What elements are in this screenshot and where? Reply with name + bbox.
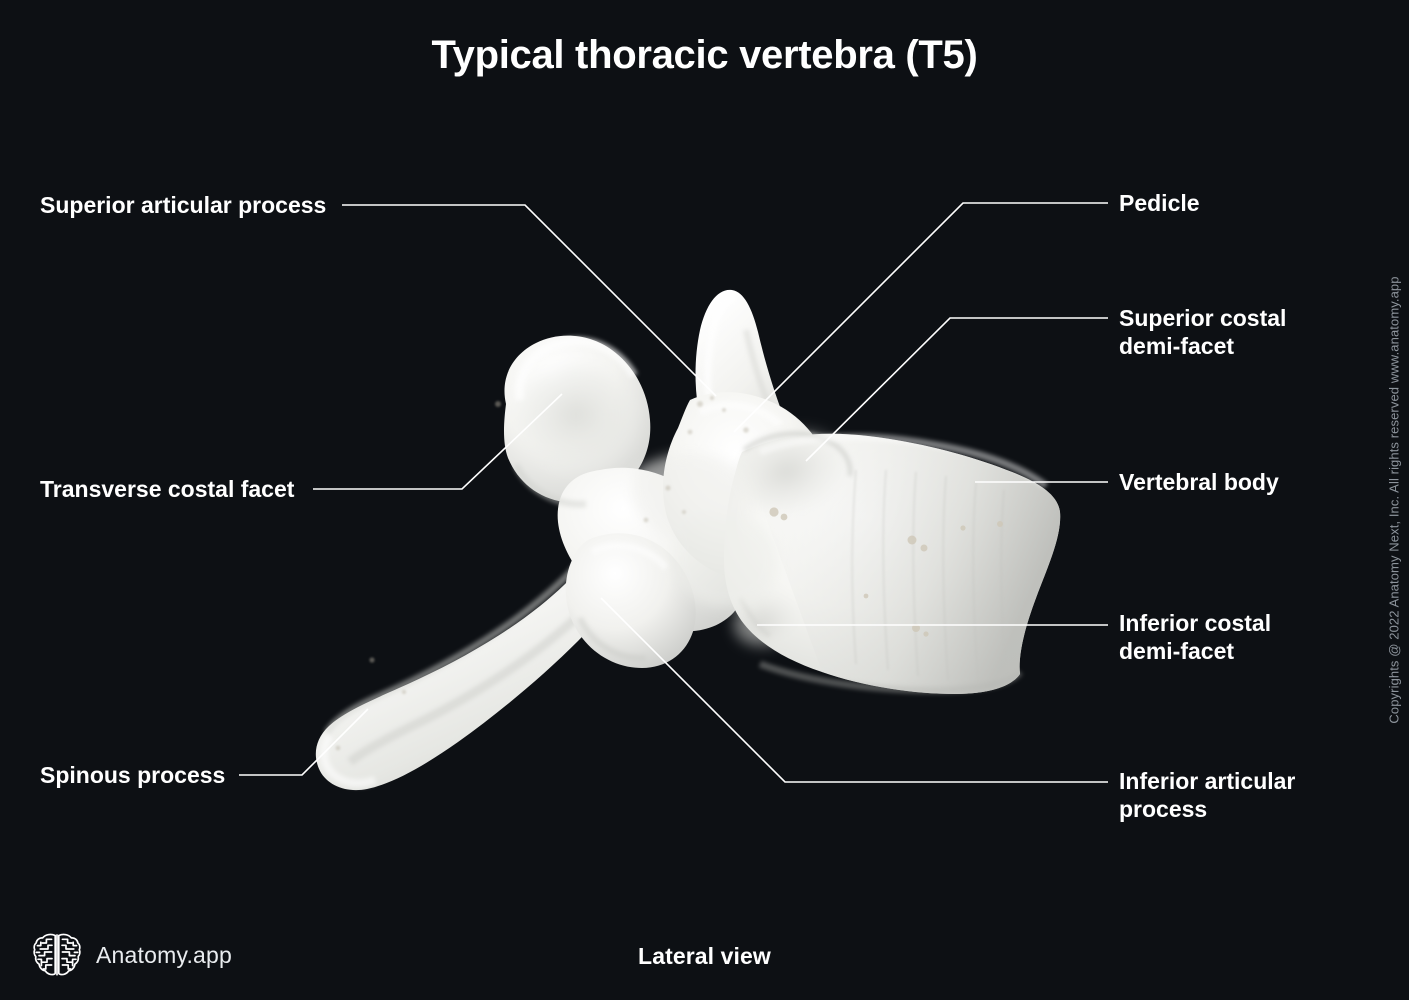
brain-icon [32, 930, 82, 980]
label-inferior-articular-process[interactable]: Inferior articular process [1119, 767, 1295, 823]
label-pedicle[interactable]: Pedicle [1119, 189, 1200, 217]
label-inferior-costal-demi-facet[interactable]: Inferior costal demi-facet [1119, 609, 1271, 665]
leader-transverse-costal-facet [313, 394, 562, 489]
leader-spinous-process [239, 709, 368, 775]
label-superior-costal-demi-facet[interactable]: Superior costal demi-facet [1119, 304, 1286, 360]
label-transverse-costal-facet[interactable]: Transverse costal facet [40, 475, 294, 503]
label-vertebral-body[interactable]: Vertebral body [1119, 468, 1279, 496]
copyright-text: Copyrights @ 2022 Anatomy Next, Inc. All… [1387, 276, 1402, 723]
leader-superior-articular-process [342, 205, 716, 396]
anatomy-figure-page: Typical thoracic vertebra (T5) Superior … [0, 0, 1409, 1000]
label-superior-articular-process[interactable]: Superior articular process [40, 191, 326, 219]
leader-superior-costal-demi-facet [806, 318, 1108, 461]
copyright-notice: Copyrights @ 2022 Anatomy Next, Inc. All… [1377, 0, 1409, 1000]
label-spinous-process[interactable]: Spinous process [40, 761, 225, 789]
brand-logo[interactable]: Anatomy.app [32, 930, 232, 980]
brand-name: Anatomy.app [96, 942, 232, 969]
